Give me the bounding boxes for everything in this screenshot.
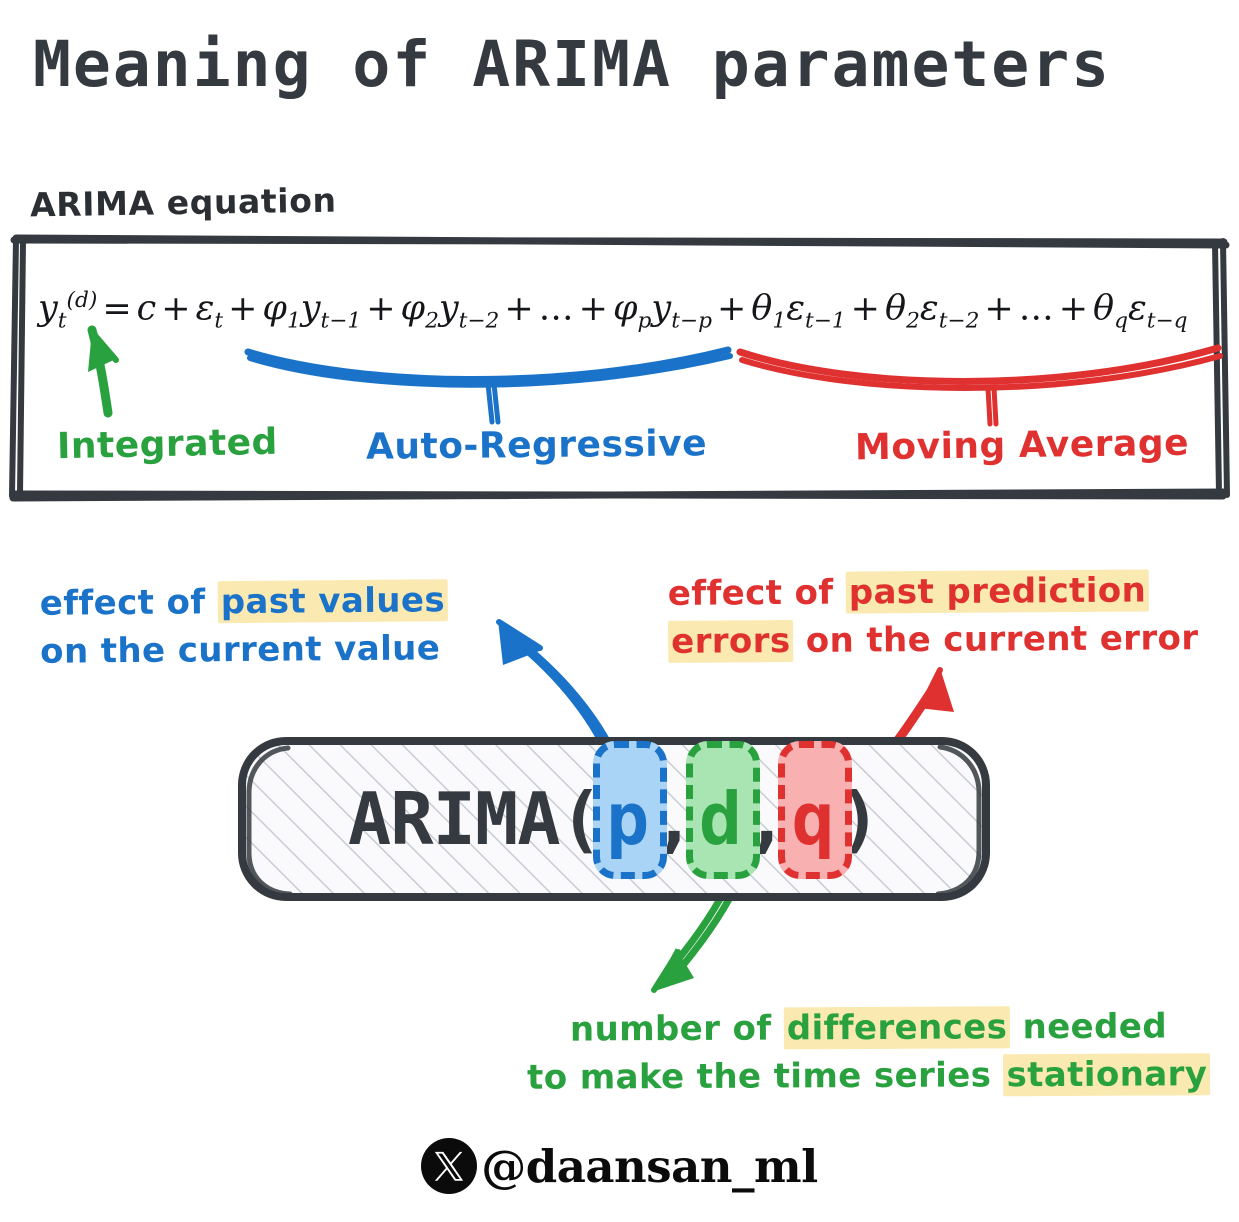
annotation-p-line1-pre: effect of xyxy=(40,582,218,624)
annotation-p-line2: on the current value xyxy=(40,624,449,676)
label-auto-regressive: Auto-Regressive xyxy=(366,423,707,468)
param-p[interactable]: p xyxy=(602,777,652,861)
annotation-q-line1-pre: effect of xyxy=(668,573,846,614)
annotation-p-line1: effect of past values xyxy=(40,576,449,628)
arima-signature-text: ARIMA(p,d,q) xyxy=(236,735,992,903)
annotation-p-highlight: past values xyxy=(218,579,449,623)
annotation-p: effect of past values on the current val… xyxy=(40,576,449,676)
annotation-q-highlight-1: past prediction xyxy=(846,569,1150,613)
param-q[interactable]: q xyxy=(787,777,837,861)
social-handle[interactable]: @daansan_ml xyxy=(481,1140,817,1193)
infographic-canvas: Meaning of ARIMA parameters ARIMA equati… xyxy=(0,0,1239,1222)
x-logo-icon[interactable] xyxy=(421,1138,477,1194)
annotation-d-highlight-1: differences xyxy=(784,1006,1011,1049)
annotation-d-line1-pre: number of xyxy=(570,1008,784,1049)
arima-signature-box: ARIMA(p,d,q) xyxy=(236,735,992,903)
param-q-glyph: q xyxy=(791,777,833,861)
annotation-d-line2: to make the time series stationary xyxy=(527,1050,1210,1102)
annotation-q-line2: errors on the current error xyxy=(668,614,1199,666)
annotation-d-line1-post: needed xyxy=(1010,1006,1167,1047)
annotation-d: number of differences needed to make the… xyxy=(527,1002,1211,1102)
label-moving-average: Moving Average xyxy=(855,423,1190,469)
arima-prefix: ARIMA( xyxy=(348,777,602,861)
equation-section-caption: ARIMA equation xyxy=(30,181,337,225)
footer: @daansan_ml xyxy=(0,1138,1239,1194)
param-p-glyph: p xyxy=(606,777,648,861)
label-integrated: Integrated xyxy=(57,422,279,468)
annotation-q: effect of past prediction errors on the … xyxy=(668,566,1199,666)
arima-equation: yt(d)=c+εt+φ1yt−1+φ2yt−2+…+φpyt−p+θ1εt−1… xyxy=(38,288,1208,334)
page-title: Meaning of ARIMA parameters xyxy=(33,28,1111,101)
annotation-d-highlight-2: stationary xyxy=(1003,1053,1210,1096)
annotation-q-line1: effect of past prediction xyxy=(668,566,1199,618)
annotation-d-line1: number of differences needed xyxy=(527,1002,1210,1054)
annotation-q-highlight-2: errors xyxy=(668,620,794,663)
param-d-glyph: d xyxy=(699,777,741,861)
annotation-q-line2-post: on the current error xyxy=(793,618,1198,661)
annotation-d-line2-pre: to make the time series xyxy=(527,1056,1004,1098)
param-d[interactable]: d xyxy=(695,777,745,861)
